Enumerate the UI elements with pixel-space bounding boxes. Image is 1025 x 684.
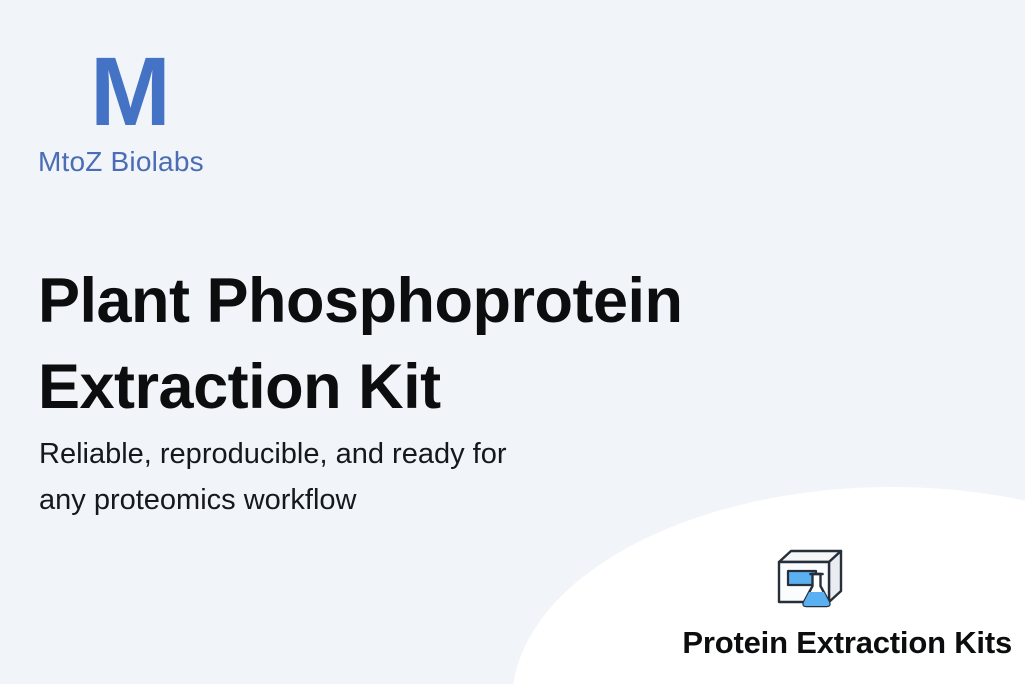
page-subtitle: Reliable, reproducible, and ready for an… xyxy=(39,431,679,523)
product-category-badge: Protein Extraction Kits xyxy=(600,548,1020,660)
slide-canvas: M MtoZ Biolabs Plant Phosphoprotein Extr… xyxy=(0,0,1025,684)
kit-box-flask-icon xyxy=(773,548,847,610)
badge-caption: Protein Extraction Kits xyxy=(600,626,1020,660)
page-title: Plant Phosphoprotein Extraction Kit xyxy=(38,258,798,430)
logo-mark-letter: M xyxy=(38,50,358,138)
logo-wordmark: MtoZ Biolabs xyxy=(38,148,358,176)
brand-logo[interactable]: M MtoZ Biolabs xyxy=(38,50,358,176)
